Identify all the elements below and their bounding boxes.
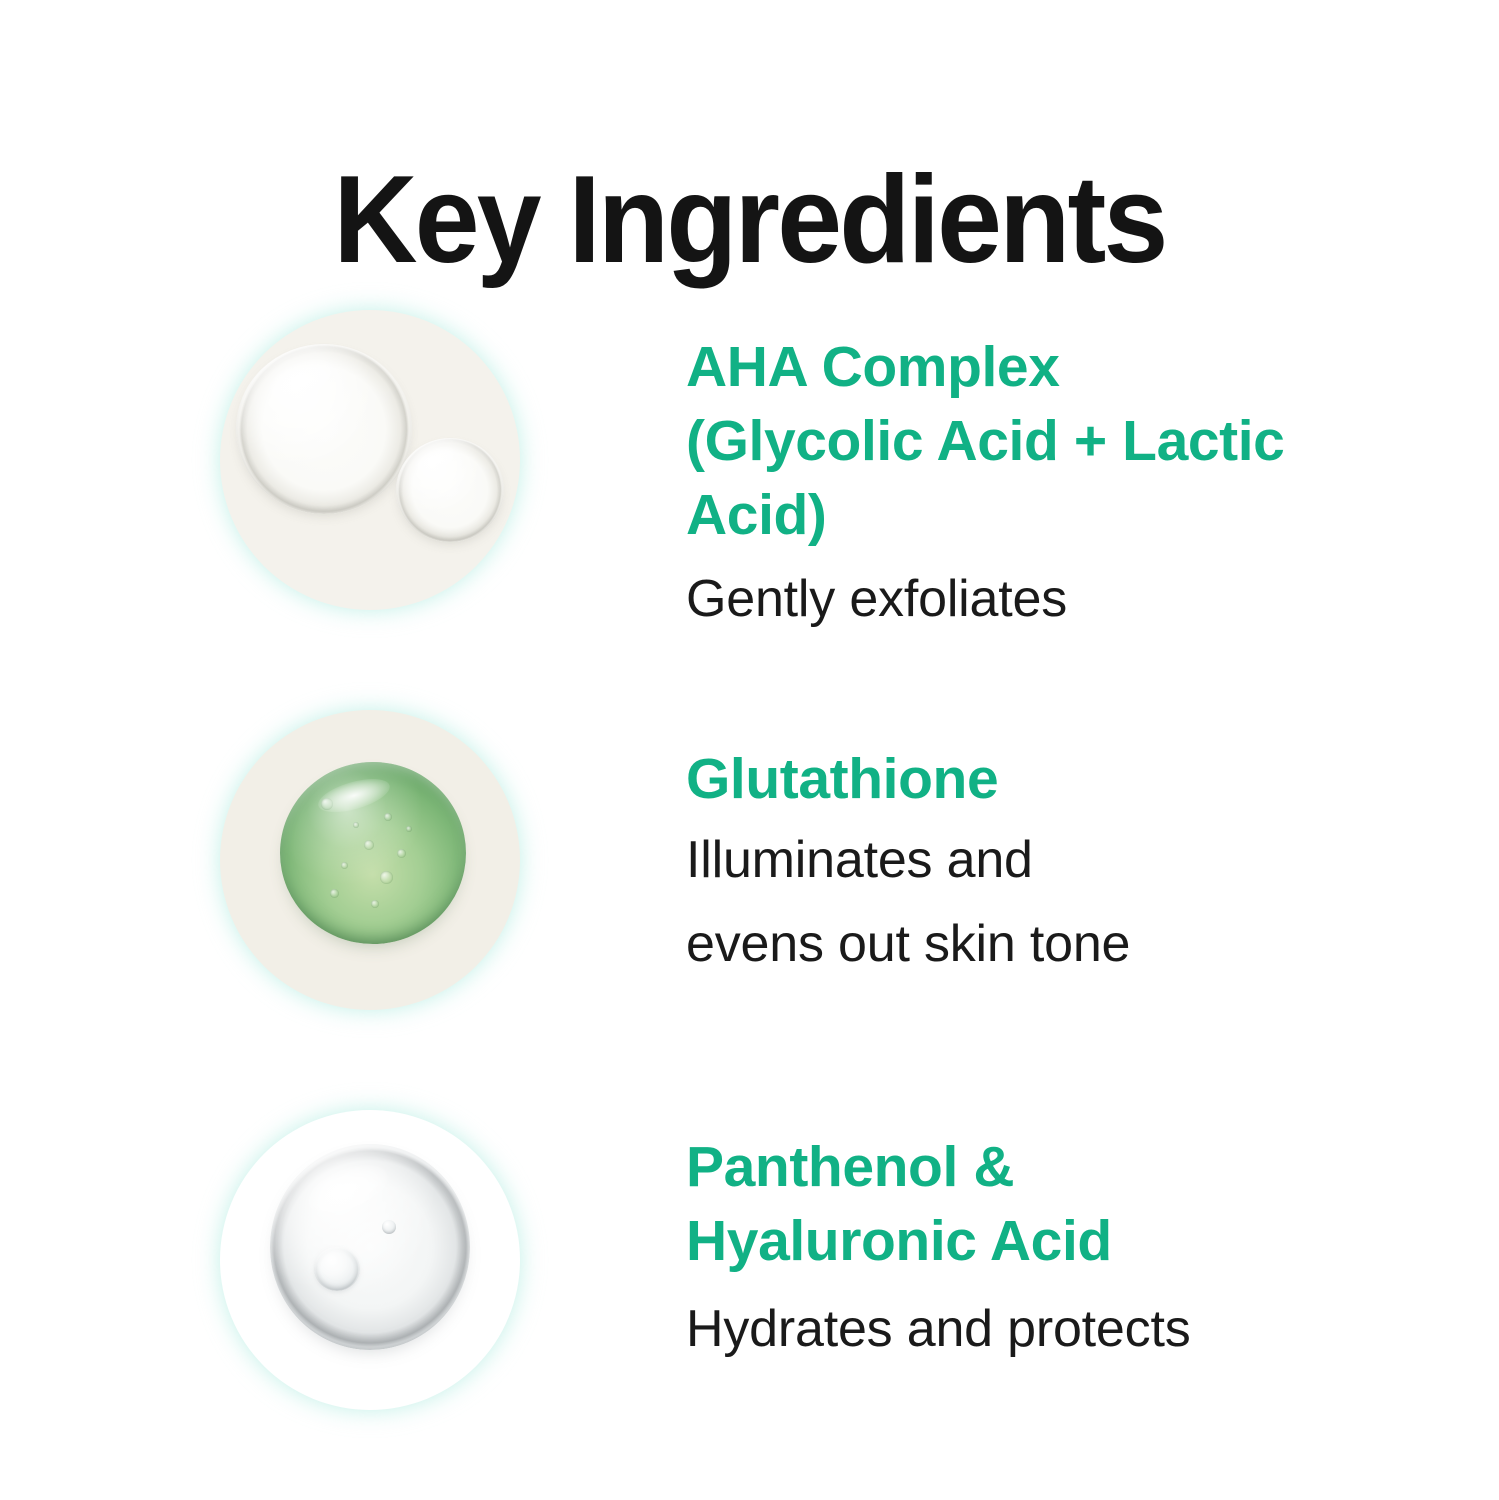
gel-bubble bbox=[353, 822, 359, 828]
swatch-panthenol-hyaluronic-acid bbox=[192, 1082, 548, 1438]
inner-droplet-icon bbox=[314, 1247, 360, 1291]
text-block-panthenol-hyaluronic-acid: Panthenol & Hyaluronic Acid Hydrates and… bbox=[686, 1130, 1426, 1370]
ingredient-row-glutathione: Glutathione Illuminates and evens out sk… bbox=[0, 682, 1499, 1042]
text-block-aha-complex: AHA Complex (Glycolic Acid + Lactic Acid… bbox=[686, 330, 1426, 640]
micro-bubble-icon bbox=[382, 1220, 396, 1234]
swatch-disc bbox=[220, 1110, 520, 1410]
gel-bubble bbox=[341, 862, 348, 869]
gel-bubble bbox=[364, 840, 374, 850]
swatch-disc bbox=[220, 310, 520, 610]
clear-droplet-large-icon bbox=[236, 344, 412, 514]
ingredient-description: Gently exfoliates bbox=[686, 552, 1426, 640]
ingredient-row-aha-complex: AHA Complex (Glycolic Acid + Lactic Acid… bbox=[0, 282, 1499, 642]
gel-bubble bbox=[330, 889, 339, 898]
text-block-glutathione: Glutathione Illuminates and evens out sk… bbox=[686, 742, 1426, 986]
ingredient-description: Illuminates and evens out skin tone bbox=[686, 816, 1426, 986]
gel-bubble bbox=[406, 826, 412, 832]
gel-bubble bbox=[321, 798, 333, 810]
gel-bubble bbox=[371, 900, 379, 908]
ingredient-name: Panthenol & Hyaluronic Acid bbox=[686, 1130, 1426, 1278]
ingredient-row-panthenol-hyaluronic-acid: Panthenol & Hyaluronic Acid Hydrates and… bbox=[0, 1082, 1499, 1442]
water-droplet-icon bbox=[270, 1144, 470, 1350]
swatch-aha-complex bbox=[192, 282, 548, 638]
page-title: Key Ingredients bbox=[45, 155, 1454, 285]
clear-droplet-small-icon bbox=[396, 438, 504, 542]
ingredient-name: AHA Complex (Glycolic Acid + Lactic Acid… bbox=[686, 330, 1426, 552]
ingredient-name: Glutathione bbox=[686, 742, 1426, 816]
gel-bubble bbox=[397, 849, 406, 858]
key-ingredients-infographic: Key Ingredients AHA Complex (Glycolic Ac… bbox=[0, 0, 1499, 1500]
gel-bubble bbox=[384, 813, 392, 821]
ingredient-description: Hydrates and protects bbox=[686, 1278, 1426, 1370]
swatch-glutathione bbox=[192, 682, 548, 1038]
gel-bubble bbox=[380, 871, 393, 884]
swatch-disc bbox=[220, 710, 520, 1010]
green-gel-droplet-icon bbox=[280, 762, 466, 944]
